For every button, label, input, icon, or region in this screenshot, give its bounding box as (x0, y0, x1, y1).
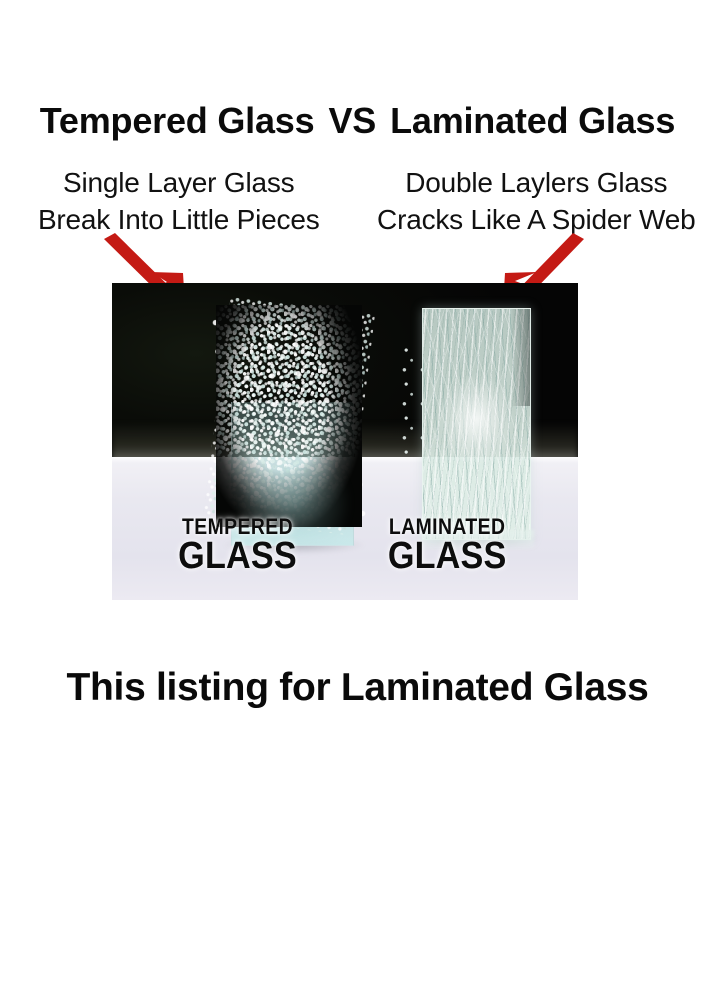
photo-caption-laminated-big: GLASS (364, 537, 532, 575)
tempered-glass-panel (231, 305, 354, 546)
photo-caption-tempered-big: GLASS (158, 537, 317, 575)
laminated-edge-shade (511, 309, 530, 405)
glass-comparison-photo: TEMPERED GLASS LAMINATED GLASS (112, 283, 578, 600)
photo-caption-tempered: TEMPERED GLASS (149, 516, 326, 575)
listing-note: This listing for Laminated Glass (0, 668, 715, 707)
subtitle-column-laminated: Double Laylers Glass Cracks Like A Spide… (358, 165, 715, 239)
laminated-line-1: Double Laylers Glass (405, 167, 667, 198)
title-tempered-glass: Tempered Glass (40, 103, 315, 139)
laminated-stray-chips (399, 346, 422, 454)
subtitle-column-tempered: Single Layer Glass Break Into Little Pie… (0, 165, 358, 239)
photo-caption-laminated: LAMINATED GLASS (354, 516, 540, 575)
title-laminated-glass: Laminated Glass (390, 103, 675, 139)
laminated-line-2: Cracks Like A Spider Web (358, 202, 715, 239)
tempered-line-2: Break Into Little Pieces (0, 202, 358, 239)
page-title: Tempered GlassVSLaminated Glass (0, 103, 715, 139)
laminated-glass-panel (422, 308, 532, 539)
comparison-subtitles: Single Layer Glass Break Into Little Pie… (0, 165, 715, 239)
title-vs: VS (328, 100, 376, 141)
tempered-line-1: Single Layer Glass (63, 167, 294, 198)
infographic-page: Tempered GlassVSLaminated Glass Single L… (0, 0, 715, 1001)
